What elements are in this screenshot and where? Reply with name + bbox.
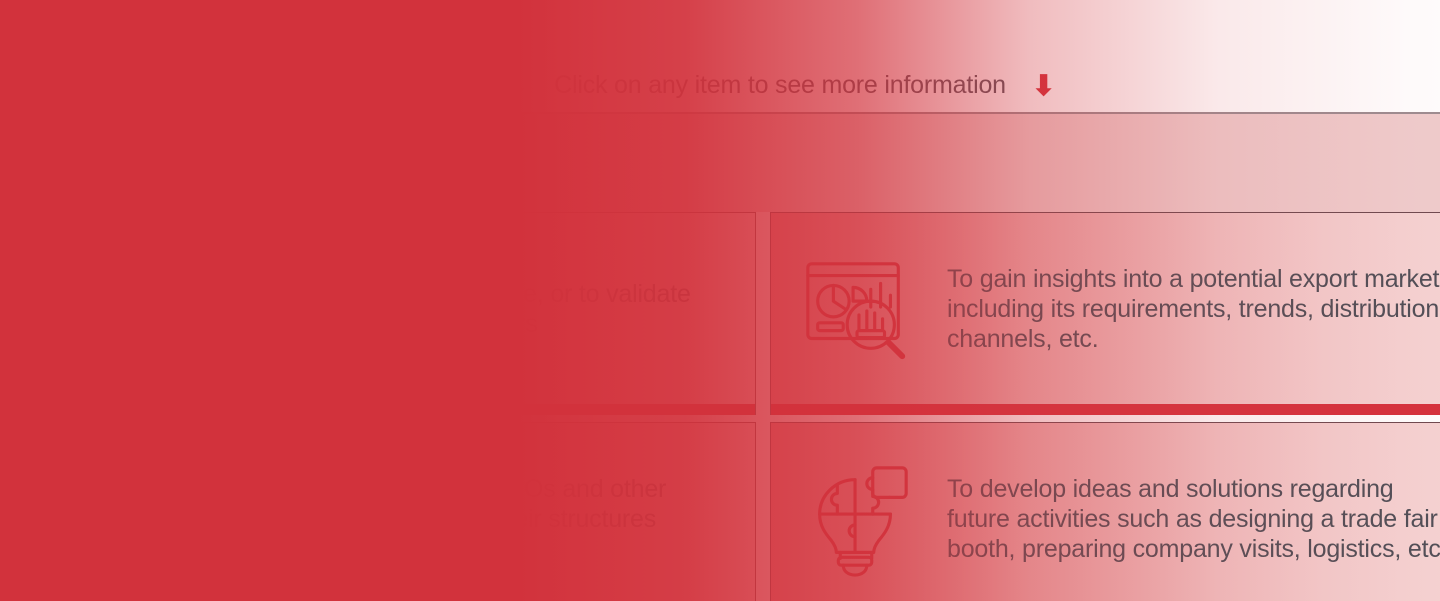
card-text-line: booth, preparing company visits, logisti…: [947, 534, 1440, 564]
page-root: ⬇ Click on any item to see more informat…: [0, 0, 1440, 601]
top-bar: [0, 0, 1440, 58]
card-text-line: the relevance for their members: [191, 309, 691, 339]
card-item[interactable]: To deepen their own knowledge, or to val…: [14, 212, 756, 404]
hamburger-menu-icon[interactable]: [58, 21, 114, 38]
card-text: To network, meeting (local) BSOs and oth…: [191, 474, 666, 564]
card-item[interactable]: To gain insights into a potential export…: [770, 212, 1440, 404]
arrow-down-icon-right: ⬇: [1032, 72, 1055, 100]
card-text-line: including its requirements, trends, dist…: [947, 294, 1440, 324]
user-avatar-icon[interactable]: [10, 12, 44, 46]
page-title: BSO staff: [10, 131, 136, 165]
lightbulb-book-icon: [37, 250, 165, 368]
card-text-line: To deepen their own knowledge, or to val…: [191, 279, 691, 309]
arrow-down-icon-left: ⬇: [505, 72, 528, 100]
card-grid: To deepen their own knowledge, or to val…: [0, 212, 1440, 601]
chart-magnifier-icon: [793, 250, 921, 368]
card-text-line: To develop ideas and solutions regarding: [947, 474, 1440, 504]
card-text: To develop ideas and solutions regarding…: [947, 474, 1440, 564]
card-text-line: stakeholders to learn about their struct…: [191, 504, 666, 534]
card-text: To deepen their own knowledge, or to val…: [191, 279, 691, 339]
section-band: [0, 114, 1440, 212]
card-item[interactable]: To network, meeting (local) BSOs and oth…: [14, 422, 756, 601]
card-text-line: future activities such as designing a tr…: [947, 504, 1440, 534]
card-text: To gain insights into a potential export…: [947, 264, 1440, 354]
card-text-line: To gain insights into a potential export…: [947, 264, 1440, 294]
hint-text: Click on any item to see more informatio…: [554, 71, 1006, 100]
puzzle-lightbulb-icon: [793, 460, 921, 578]
card-text-line: and focus: [191, 534, 666, 564]
card-text-line: To network, meeting (local) BSOs and oth…: [191, 474, 666, 504]
people-network-icon: [37, 460, 165, 578]
hint-banner: ⬇ Click on any item to see more informat…: [0, 58, 1440, 113]
card-item[interactable]: To develop ideas and solutions regarding…: [770, 422, 1440, 601]
card-text-line: channels, etc.: [947, 324, 1440, 354]
